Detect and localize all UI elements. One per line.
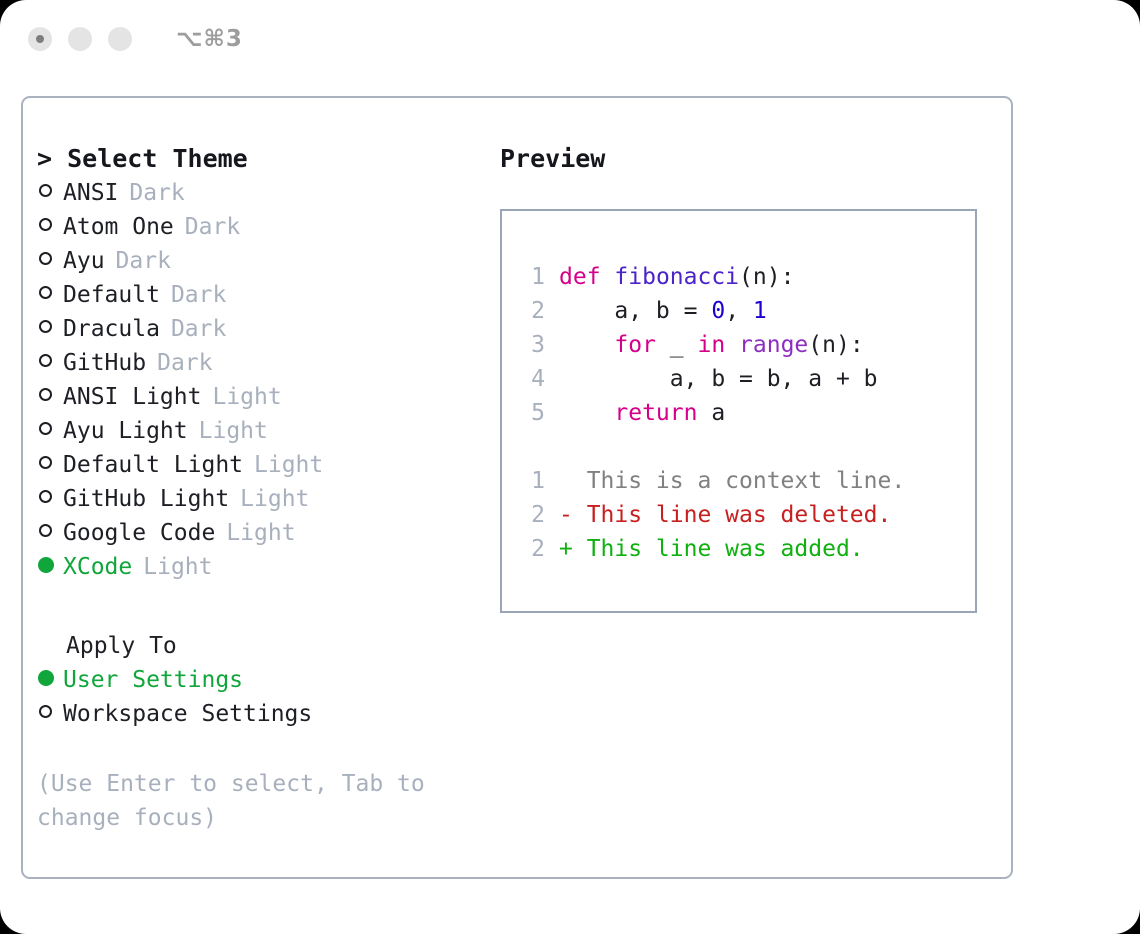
theme-item-7[interactable]: Ayu LightLight [37, 414, 497, 448]
code-token [725, 332, 739, 358]
theme-item-variant: Light [212, 380, 281, 414]
code-line-2: 3 for _ in range(n): [515, 328, 969, 362]
apply-option-label: Workspace Settings [63, 697, 312, 731]
theme-item-8[interactable]: Default LightLight [37, 448, 497, 482]
apply-option-label: User Settings [63, 663, 243, 697]
line-number: 2 [515, 294, 545, 328]
diff-line-text: - This line was deleted. [559, 498, 891, 532]
line-number: 2 [515, 498, 545, 532]
diff-line-1: 2- This line was deleted. [515, 498, 969, 532]
code-token: This is a context line. [559, 468, 905, 494]
code-preview: 1def fibonacci(n):2 a, b = 0, 13 for _ i… [515, 260, 969, 566]
code-token: _ [656, 332, 698, 358]
theme-item-variant: Light [226, 516, 295, 550]
code-token: 1 [753, 298, 767, 324]
theme-item-1[interactable]: Atom OneDark [37, 210, 497, 244]
theme-item-variant: Light [254, 448, 323, 482]
apply-option-1[interactable]: Workspace Settings [37, 697, 497, 731]
code-line-1: 2 a, b = 0, 1 [515, 294, 969, 328]
line-number: 4 [515, 362, 545, 396]
code-line-text: for _ in range(n): [559, 328, 864, 362]
main-panel: > Select Theme ANSIDarkAtom OneDarkAyuDa… [21, 96, 1013, 879]
theme-item-label: Ayu [63, 244, 105, 278]
code-line-text: def fibonacci(n): [559, 260, 794, 294]
code-token: return [614, 400, 697, 426]
apply-to-label: Apply To [37, 629, 497, 663]
theme-picker-column: > Select Theme ANSIDarkAtom OneDarkAyuDa… [37, 142, 497, 835]
code-line-4: 5 return a [515, 396, 969, 430]
code-token: , [725, 298, 753, 324]
theme-item-4[interactable]: DraculaDark [37, 312, 497, 346]
code-token: a [697, 400, 725, 426]
theme-item-label: GitHub [63, 346, 146, 380]
code-line-text: a, b = 0, 1 [559, 294, 767, 328]
theme-item-9[interactable]: GitHub LightLight [37, 482, 497, 516]
theme-item-0[interactable]: ANSIDark [37, 176, 497, 210]
code-token: + This line was added. [559, 536, 864, 562]
theme-item-variant: Light [143, 550, 212, 584]
theme-item-label: ANSI [63, 176, 118, 210]
theme-item-variant: Light [240, 482, 309, 516]
keyboard-shortcut-label: ⌥⌘3 [176, 26, 243, 52]
theme-item-variant: Dark [171, 278, 226, 312]
code-token [601, 264, 615, 290]
theme-list: ANSIDarkAtom OneDarkAyuDarkDefaultDarkDr… [37, 176, 497, 584]
theme-item-variant: Dark [157, 346, 212, 380]
preview-column: Preview 1def fibonacci(n):2 a, b = 0, 13… [500, 142, 1000, 613]
theme-item-variant: Light [199, 414, 268, 448]
theme-item-label: ANSI Light [63, 380, 201, 414]
theme-item-label: Atom One [63, 210, 174, 244]
app-window: ⌥⌘3 > Select Theme ANSIDarkAtom OneDarkA… [0, 0, 1140, 934]
line-number: 2 [515, 532, 545, 566]
diff-line-0: 1 This is a context line. [515, 464, 969, 498]
apply-option-0[interactable]: User Settings [37, 663, 497, 697]
code-token: a, b = b, a + b [559, 366, 878, 392]
code-token: fibonacci [614, 264, 739, 290]
theme-item-11[interactable]: XCodeLight [37, 550, 497, 584]
code-token [559, 400, 614, 426]
window-titlebar: ⌥⌘3 [0, 0, 1140, 78]
code-token: range [739, 332, 808, 358]
code-token: def [559, 264, 601, 290]
theme-item-3[interactable]: DefaultDark [37, 278, 497, 312]
diff-line-text: + This line was added. [559, 532, 864, 566]
line-number: 3 [515, 328, 545, 362]
theme-item-label: Google Code [63, 516, 215, 550]
preview-box: 1def fibonacci(n):2 a, b = 0, 13 for _ i… [500, 209, 977, 613]
theme-item-label: Default [63, 278, 160, 312]
code-token: (n): [808, 332, 863, 358]
code-lines: 1def fibonacci(n):2 a, b = 0, 13 for _ i… [515, 260, 969, 430]
line-number: 1 [515, 464, 545, 498]
line-number: 5 [515, 396, 545, 430]
code-line-3: 4 a, b = b, a + b [515, 362, 969, 396]
traffic-light-active[interactable] [28, 27, 52, 51]
code-line-0: 1def fibonacci(n): [515, 260, 969, 294]
theme-item-label: Default Light [63, 448, 243, 482]
code-token [559, 332, 614, 358]
theme-item-label: GitHub Light [63, 482, 229, 516]
diff-line-2: 2+ This line was added. [515, 532, 969, 566]
theme-item-variant: Dark [171, 312, 226, 346]
theme-item-label: Dracula [63, 312, 160, 346]
theme-item-5[interactable]: GitHubDark [37, 346, 497, 380]
code-token: 0 [711, 298, 725, 324]
apply-to-options: User SettingsWorkspace Settings [37, 663, 497, 731]
preview-heading: Preview [500, 142, 1000, 176]
code-token: for [614, 332, 656, 358]
code-token: a, b = [559, 298, 711, 324]
select-theme-heading: > Select Theme [37, 142, 497, 176]
theme-item-label: XCode [63, 550, 132, 584]
theme-item-10[interactable]: Google CodeLight [37, 516, 497, 550]
theme-item-2[interactable]: AyuDark [37, 244, 497, 278]
diff-lines: 1 This is a context line.2- This line wa… [515, 464, 969, 566]
code-diff-spacer [515, 430, 969, 464]
code-token: in [697, 332, 725, 358]
diff-line-text: This is a context line. [559, 464, 905, 498]
keyboard-hint: (Use Enter to select, Tab to change focu… [37, 767, 457, 835]
code-token: (n): [739, 264, 794, 290]
traffic-light-3[interactable] [108, 27, 132, 51]
theme-item-variant: Dark [116, 244, 171, 278]
code-line-text: return a [559, 396, 725, 430]
line-number: 1 [515, 260, 545, 294]
code-token: - This line was deleted. [559, 502, 891, 528]
theme-item-6[interactable]: ANSI LightLight [37, 380, 497, 414]
theme-item-label: Ayu Light [63, 414, 188, 448]
theme-item-variant: Dark [129, 176, 184, 210]
theme-item-variant: Dark [185, 210, 240, 244]
code-line-text: a, b = b, a + b [559, 362, 878, 396]
traffic-light-2[interactable] [68, 27, 92, 51]
apply-to-block: Apply To User SettingsWorkspace Settings [37, 629, 497, 731]
